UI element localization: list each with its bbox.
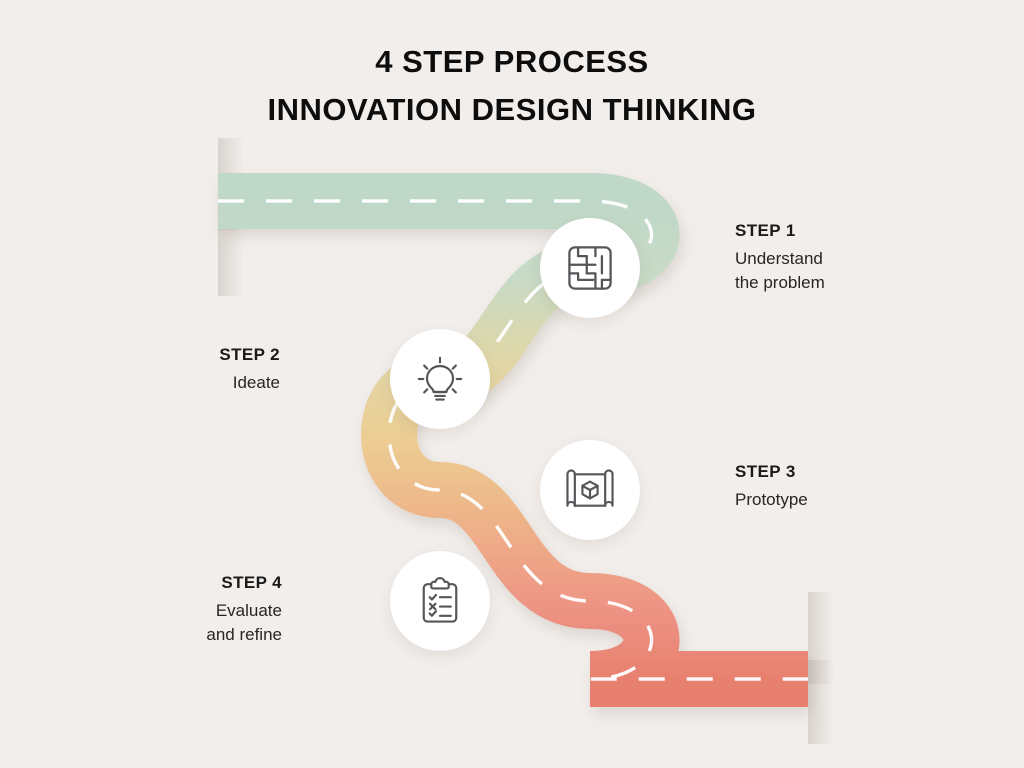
infographic-canvas: 4 STEP PROCESS INNOVATION DESIGN THINKIN… (0, 0, 1024, 768)
step-label-1: STEP 1 Understandthe problem (735, 221, 945, 295)
step-4-title: STEP 4 (100, 573, 282, 593)
step-3-title: STEP 3 (735, 462, 945, 482)
step-label-3: STEP 3 Prototype (735, 462, 945, 512)
step-node-3[interactable] (540, 440, 640, 540)
blueprint-icon (564, 464, 616, 516)
step-1-desc: Understandthe problem (735, 247, 945, 295)
step-2-title: STEP 2 (100, 345, 280, 365)
clipboard-checklist-icon (414, 575, 466, 627)
lightbulb-icon (414, 353, 466, 405)
step-label-4: STEP 4 Evaluateand refine (100, 573, 282, 647)
step-node-4[interactable] (390, 551, 490, 651)
maze-icon (564, 242, 616, 294)
step-1-title: STEP 1 (735, 221, 945, 241)
step-2-desc: Ideate (100, 371, 280, 395)
step-label-2: STEP 2 Ideate (100, 345, 280, 395)
step-node-2[interactable] (390, 329, 490, 429)
step-3-desc: Prototype (735, 488, 945, 512)
step-node-1[interactable] (540, 218, 640, 318)
step-4-desc: Evaluateand refine (100, 599, 282, 647)
